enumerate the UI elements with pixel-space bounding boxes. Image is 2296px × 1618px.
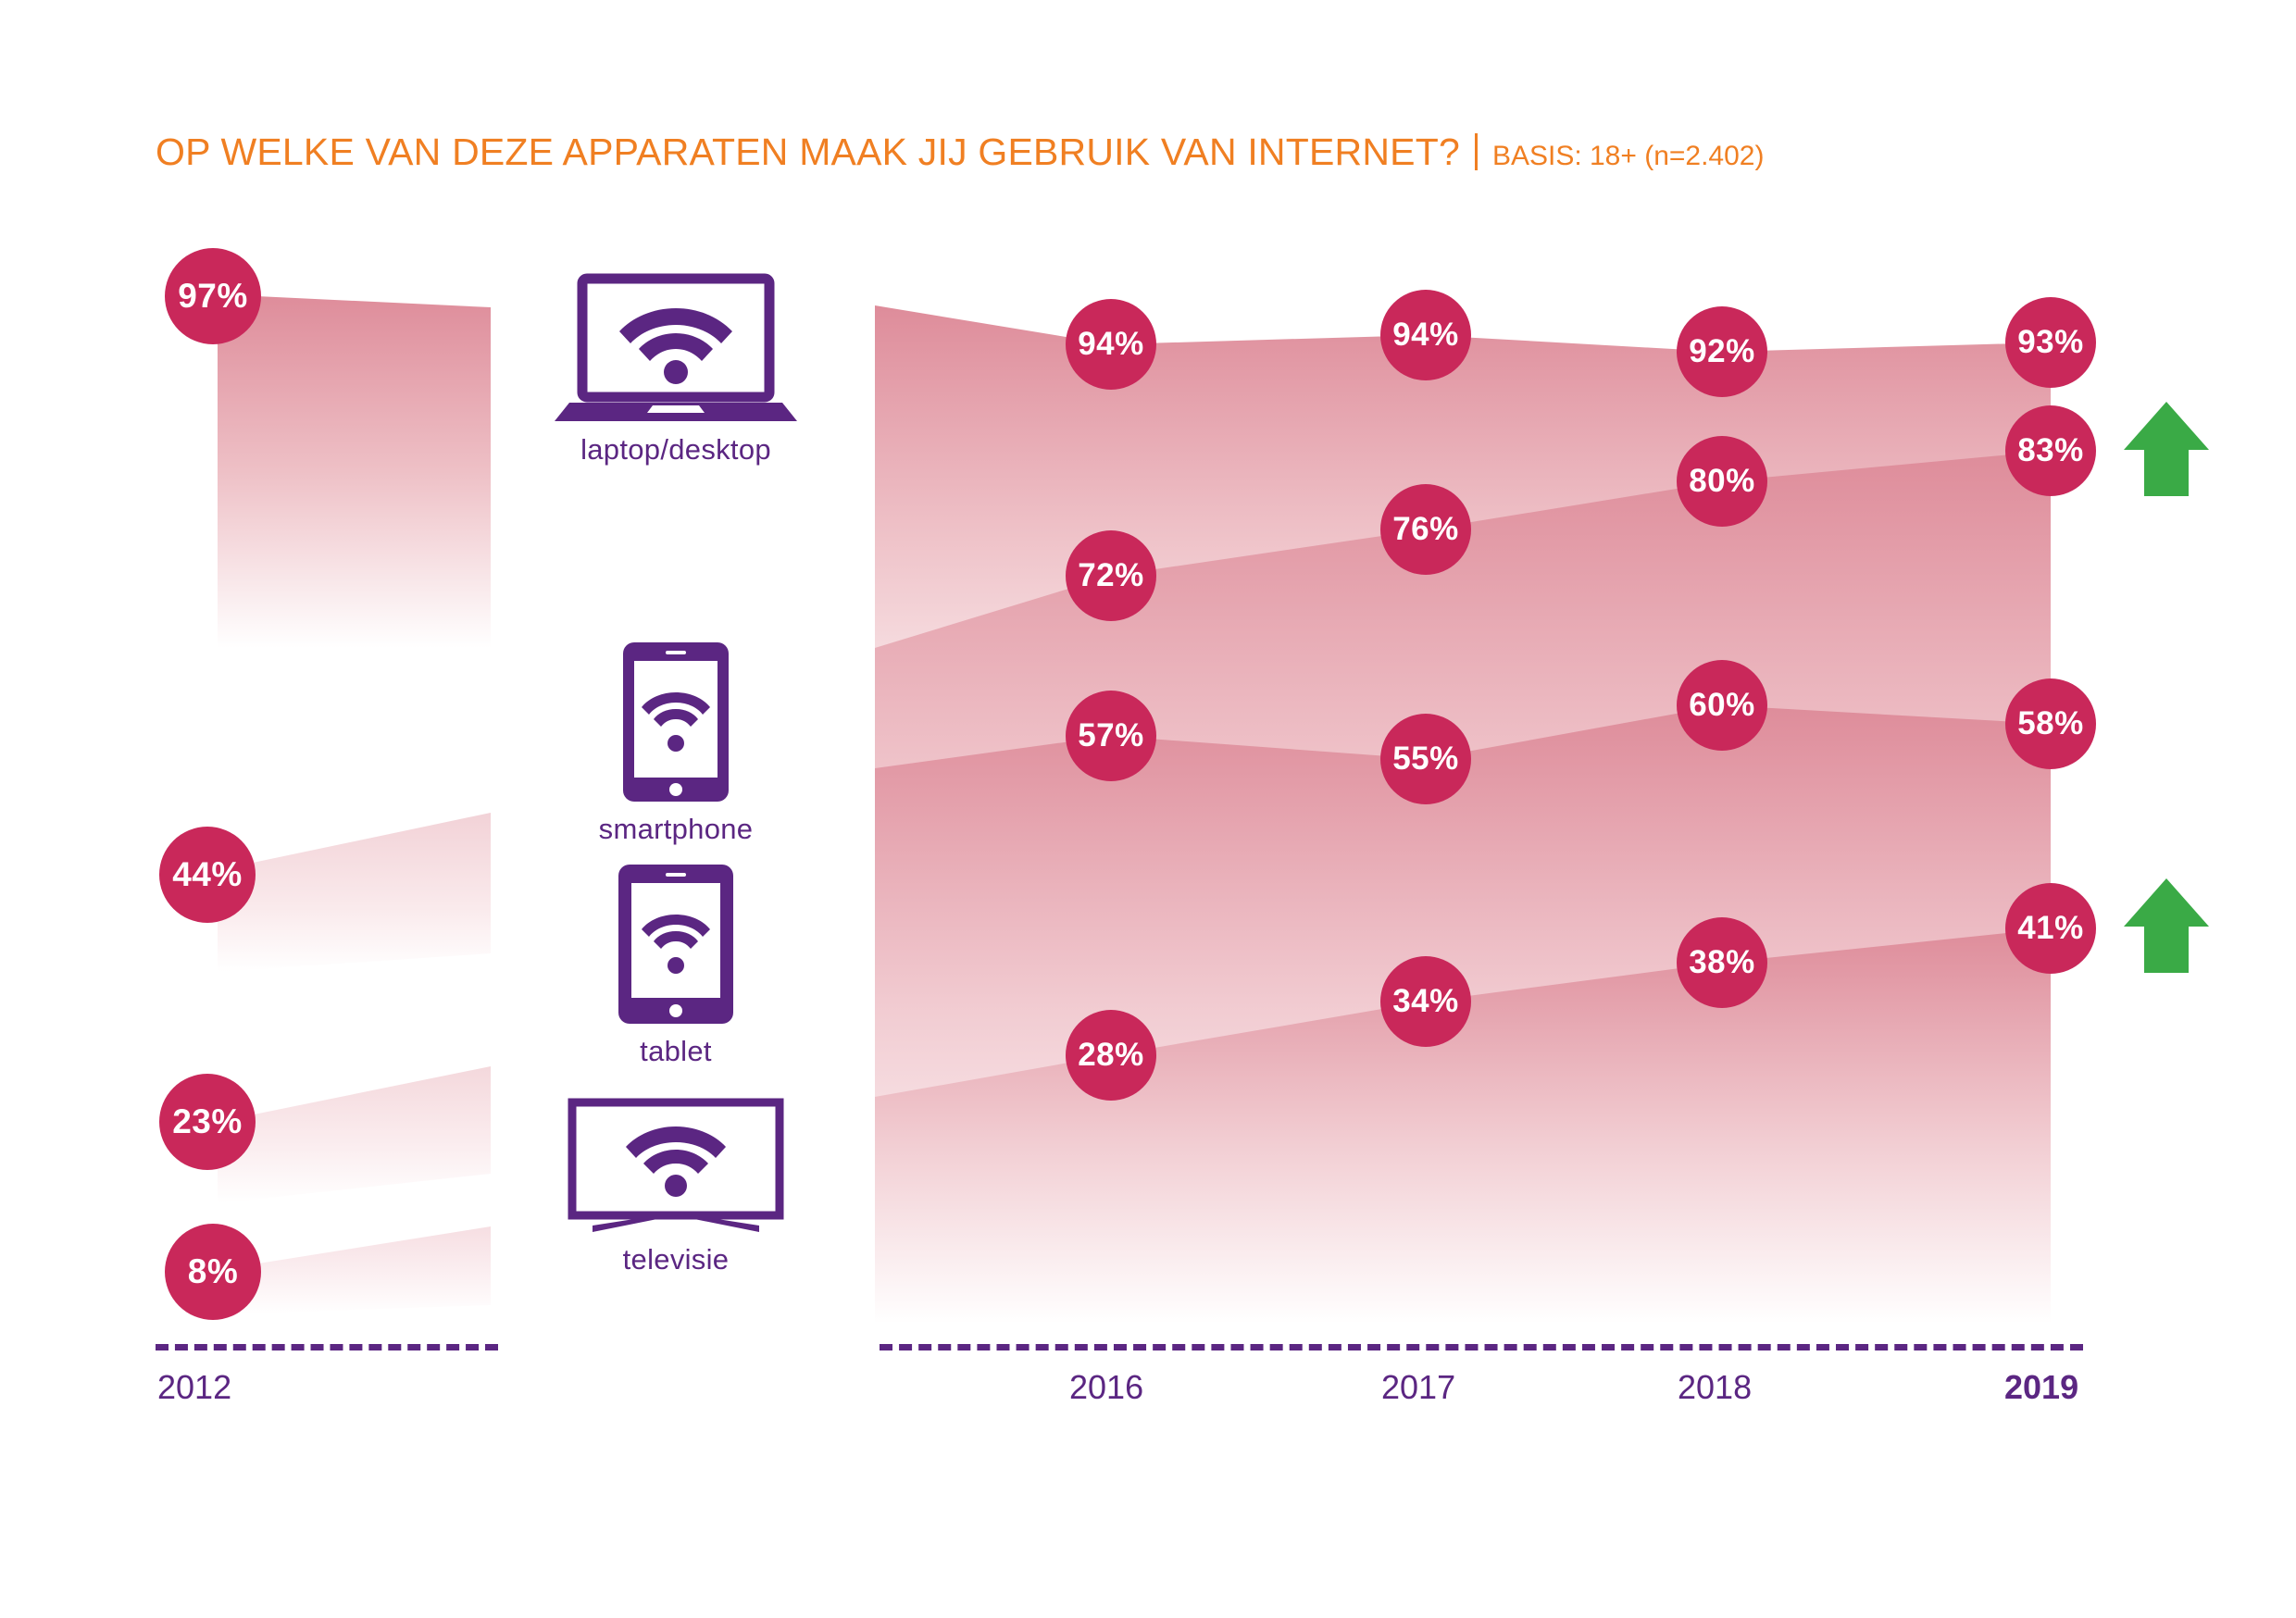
device-laptop: laptop/desktop xyxy=(537,273,815,467)
device-label-smartphone: smartphone xyxy=(537,813,815,846)
axis-line-left xyxy=(156,1344,498,1350)
year-label-2019: 2019 xyxy=(2004,1368,2078,1407)
value-bubble-2012-televisie[interactable]: 8% xyxy=(165,1224,261,1320)
device-tablet: tablet xyxy=(537,861,815,1068)
year-label-2018: 2018 xyxy=(1678,1368,1752,1407)
value-bubble-2018-smartphone[interactable]: 80% xyxy=(1677,436,1767,527)
area-bands xyxy=(0,0,2296,1618)
device-label-tablet: tablet xyxy=(537,1035,815,1068)
value-bubble-2019-laptop[interactable]: 93% xyxy=(2005,297,2096,388)
value-bubble-2016-smartphone[interactable]: 72% xyxy=(1066,530,1156,621)
value-bubble-2012-tablet[interactable]: 23% xyxy=(159,1074,256,1170)
laptop-wifi-icon xyxy=(551,273,801,426)
value-bubble-2017-televisie[interactable]: 34% xyxy=(1380,956,1471,1047)
device-label-laptop: laptop/desktop xyxy=(537,433,815,467)
value-bubble-2018-laptop[interactable]: 92% xyxy=(1677,306,1767,397)
year-label-2017: 2017 xyxy=(1381,1368,1455,1407)
value-bubble-2016-televisie[interactable]: 28% xyxy=(1066,1010,1156,1101)
television-wifi-icon xyxy=(565,1097,787,1236)
value-bubble-2019-televisie[interactable]: 41% xyxy=(2005,883,2096,974)
tablet-wifi-icon xyxy=(611,861,741,1027)
trend-up-arrow-televisie xyxy=(2120,875,2213,977)
device-label-televisie: televisie xyxy=(537,1243,815,1276)
band-2012-smartphone xyxy=(218,813,491,972)
value-bubble-2017-tablet[interactable]: 55% xyxy=(1380,714,1471,804)
value-bubble-2012-smartphone[interactable]: 44% xyxy=(159,827,256,923)
value-bubble-2019-tablet[interactable]: 58% xyxy=(2005,678,2096,769)
axis-line-right xyxy=(880,1344,2083,1350)
trend-up-arrow-smartphone xyxy=(2120,398,2213,500)
year-label-2012: 2012 xyxy=(157,1368,231,1407)
band-2012-laptop xyxy=(218,294,491,648)
smartphone-wifi-icon xyxy=(616,639,736,805)
device-televisie: televisie xyxy=(537,1097,815,1276)
value-bubble-2012-laptop[interactable]: 97% xyxy=(165,248,261,344)
value-bubble-2019-smartphone[interactable]: 83% xyxy=(2005,405,2096,496)
infographic-canvas: OP WELKE VAN DEZE APPARATEN MAAK JIJ GEB… xyxy=(0,0,2296,1618)
year-label-2016: 2016 xyxy=(1069,1368,1143,1407)
value-bubble-2017-smartphone[interactable]: 76% xyxy=(1380,484,1471,575)
value-bubble-2016-laptop[interactable]: 94% xyxy=(1066,299,1156,390)
value-bubble-2018-televisie[interactable]: 38% xyxy=(1677,917,1767,1008)
device-smartphone: smartphone xyxy=(537,639,815,846)
band-2012-tablet xyxy=(218,1066,491,1203)
value-bubble-2018-tablet[interactable]: 60% xyxy=(1677,660,1767,751)
value-bubble-2017-laptop[interactable]: 94% xyxy=(1380,290,1471,380)
value-bubble-2016-tablet[interactable]: 57% xyxy=(1066,691,1156,781)
